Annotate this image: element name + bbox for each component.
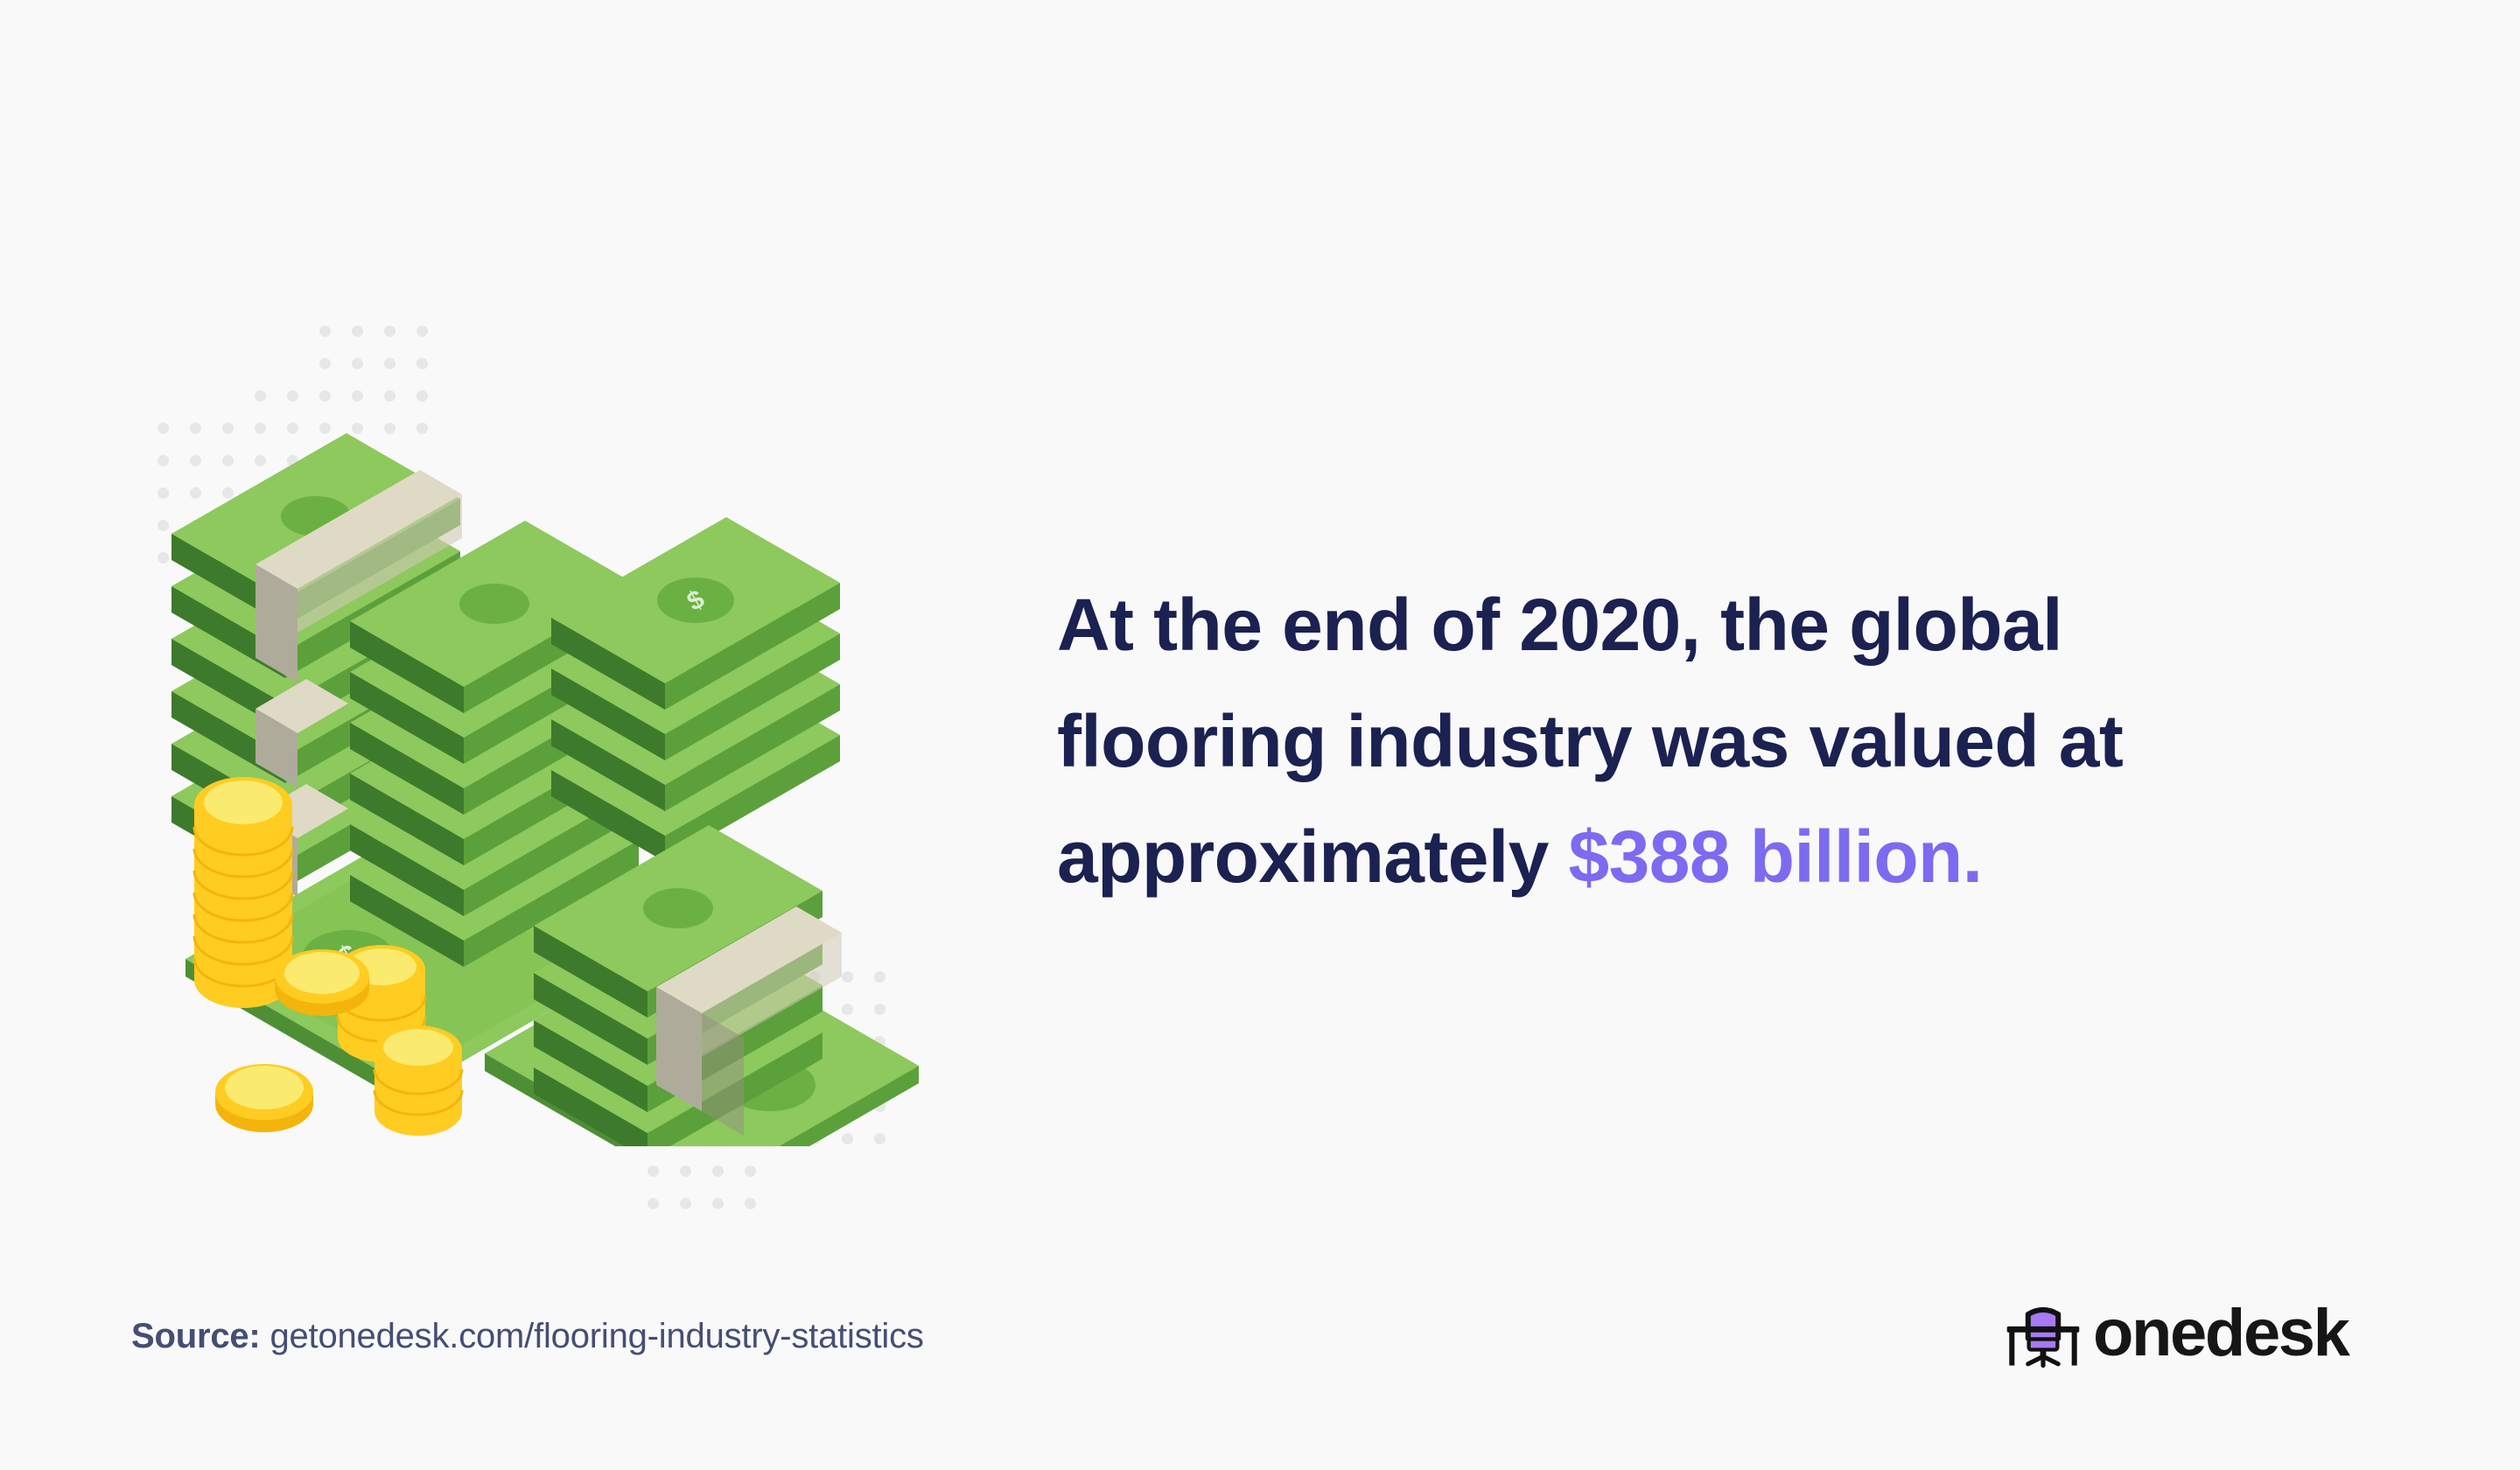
pattern-dot — [384, 358, 395, 369]
coin-stack-bottom — [374, 1025, 462, 1136]
pattern-dot — [416, 390, 428, 402]
desk-chair-logo-icon — [2005, 1293, 2081, 1368]
pattern-dot — [287, 390, 298, 402]
pattern-dot — [319, 325, 331, 337]
pattern-dot — [255, 390, 266, 402]
infographic-card: $ $ — [0, 0, 2520, 1470]
pattern-dot — [647, 1165, 659, 1177]
headline-line-2: flooring industry was valued at — [1057, 683, 2229, 800]
headline-stat-value: $388 billion. — [1568, 815, 1982, 898]
pattern-dot — [712, 1165, 724, 1177]
pattern-dot — [745, 1165, 756, 1177]
pattern-dot — [384, 325, 395, 337]
pattern-dot — [352, 390, 363, 402]
pattern-dot — [416, 325, 428, 337]
source-line: Source: getonedesk.com/flooring-industry… — [131, 1314, 924, 1358]
headline: At the end of 2020, the global flooring … — [1057, 567, 2229, 915]
pattern-dot — [319, 358, 331, 369]
source-url[interactable]: getonedesk.com/flooring-industry-statist… — [261, 1317, 924, 1355]
coin-single-flat — [215, 1064, 313, 1132]
onedesk-logo[interactable]: onedesk — [2005, 1293, 2348, 1368]
headline-line-3-prefix: approximately — [1057, 815, 1568, 898]
pattern-dot — [712, 1198, 724, 1209]
pattern-dot — [384, 390, 395, 402]
dollar-sign-medallion-upper: $ — [657, 577, 734, 623]
pattern-dot — [319, 390, 331, 402]
pattern-dot — [745, 1198, 756, 1209]
pattern-dot — [352, 325, 363, 337]
onedesk-wordmark: onedesk — [2093, 1300, 2348, 1367]
source-label: Source: — [131, 1317, 261, 1355]
coin-single-middle — [275, 949, 369, 1016]
pattern-dot — [680, 1165, 691, 1177]
pattern-dot — [416, 358, 428, 369]
headline-line-1: At the end of 2020, the global — [1057, 567, 2229, 683]
isometric-money-stacks-illustration: $ $ — [131, 420, 1006, 1146]
headline-line-3: approximately $388 billion. — [1057, 799, 2229, 915]
pattern-dot — [352, 358, 363, 369]
pattern-dot — [680, 1198, 691, 1209]
pattern-dot — [647, 1198, 659, 1209]
